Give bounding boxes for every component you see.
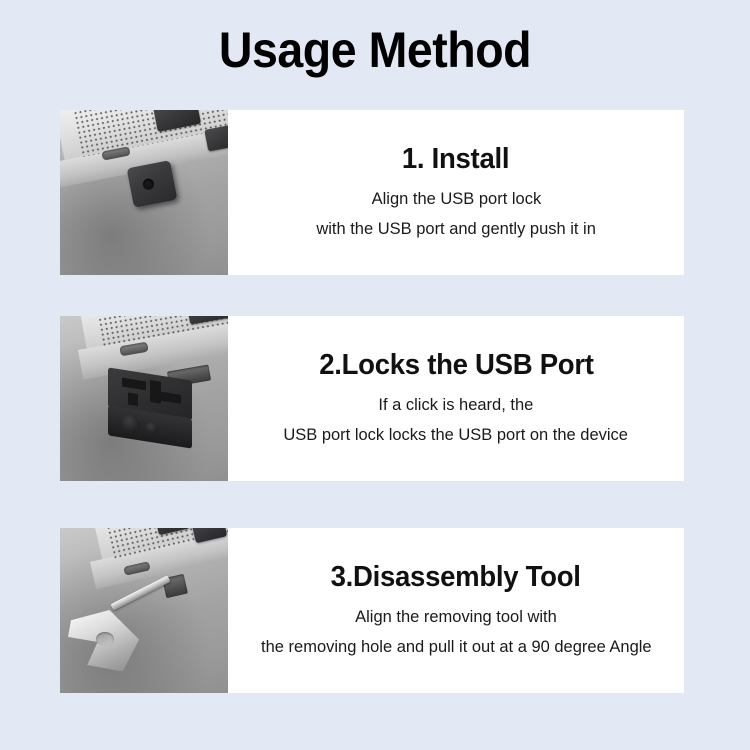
step-2-line-1: If a click is heard, the xyxy=(379,396,534,415)
lock-plug-hole xyxy=(142,178,155,191)
step-card-1: 1. Install Align the USB port lock with … xyxy=(60,110,684,275)
step-1-heading: 1. Install xyxy=(402,143,509,176)
step-3-copy: 3.Disassembly Tool Align the removing to… xyxy=(228,528,684,693)
lock-notch xyxy=(128,393,138,407)
step-1-photo xyxy=(60,110,228,275)
usb-port-lock-block xyxy=(108,374,200,444)
step-2-lines: If a click is heard, the USB port lock l… xyxy=(278,396,633,444)
step-2-copy: 2.Locks the USB Port If a click is heard… xyxy=(228,316,684,481)
page-title: Usage Method xyxy=(26,24,724,77)
lock-face-hole xyxy=(122,414,140,435)
step-3-lines: Align the removing tool with the removin… xyxy=(255,608,658,656)
usb-port-lock-plug xyxy=(127,160,178,208)
step-card-2: 2.Locks the USB Port If a click is heard… xyxy=(60,316,684,481)
step-3-line-1: Align the removing tool with xyxy=(355,608,557,627)
removal-tool-hole xyxy=(96,632,114,646)
step-3-heading: 3.Disassembly Tool xyxy=(331,561,581,594)
step-1-lines: Align the USB port lock with the USB por… xyxy=(312,190,600,238)
step-card-3: 3.Disassembly Tool Align the removing to… xyxy=(60,528,684,693)
step-3-photo xyxy=(60,528,228,693)
lock-notch xyxy=(161,392,181,404)
lock-face-hole xyxy=(146,421,158,435)
step-1-line-2: with the USB port and gently push it in xyxy=(316,220,596,239)
lock-notch xyxy=(150,380,161,404)
step-1-copy: 1. Install Align the USB port lock with … xyxy=(228,110,684,275)
step-2-photo xyxy=(60,316,228,481)
step-1-line-1: Align the USB port lock xyxy=(371,190,541,209)
usage-method-page: Usage Method 1. Install Align the USB po… xyxy=(0,0,750,750)
step-2-heading: 2.Locks the USB Port xyxy=(319,349,593,382)
step-3-line-2: the removing hole and pull it out at a 9… xyxy=(261,638,652,657)
step-2-line-2: USB port lock locks the USB port on the … xyxy=(284,426,629,445)
lock-notch xyxy=(122,378,146,391)
